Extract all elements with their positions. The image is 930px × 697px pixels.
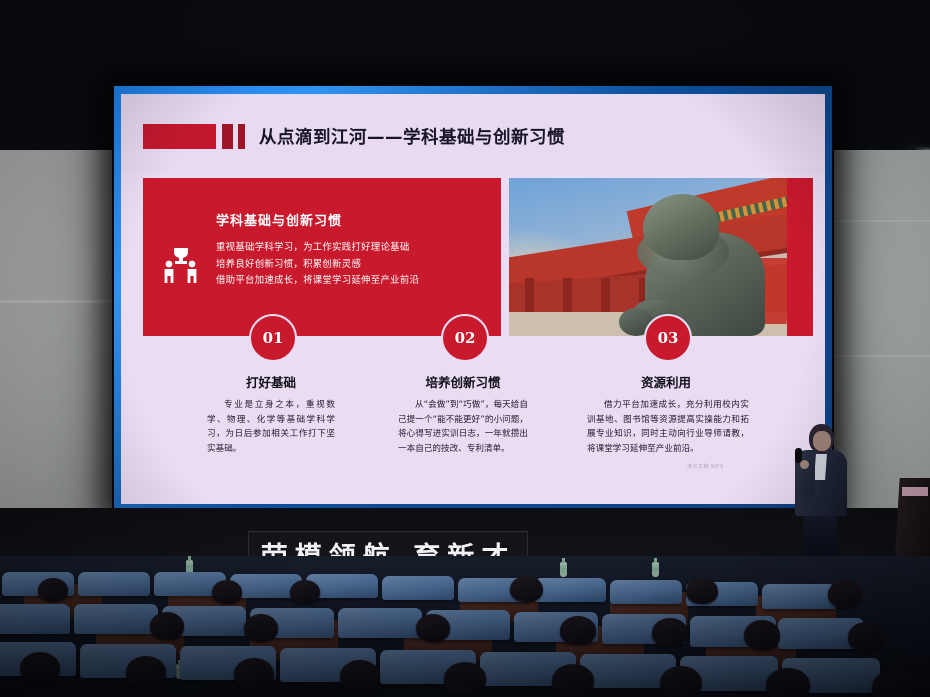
title-accent-bar-large [143,124,216,149]
column-body-3: 借力平台加速成长，充分利用校内实训基地、图书馆等资源提高实操能力和拓展专业知识，… [587,398,749,456]
lecture-hall-scene: 从点滴到江河——学科基础与创新习惯 学科基础与创新习惯 重视基础学科学习，为工作… [0,0,930,697]
hero-line-1: 重视基础学科学习，为工作实践打好理论基础 [216,240,496,257]
audience-seating [0,556,930,697]
presenter-speaker [791,424,853,554]
slide-title-row: 从点滴到江河——学科基础与创新习惯 [143,124,565,149]
hero-text-block: 学科基础与创新习惯 重视基础学科学习，为工作实践打好理论基础 培养良好创新习惯，… [216,210,496,290]
hero-heading: 学科基础与创新习惯 [216,210,496,229]
slide-canvas: 从点滴到江河——学科基础与创新习惯 学科基础与创新习惯 重视基础学科学习，为工作… [121,94,825,504]
presentation-screen[interactable]: 从点滴到江河——学科基础与创新习惯 学科基础与创新习惯 重视基础学科学习，为工作… [112,84,834,514]
step-number-03: 03 [644,314,692,362]
bronze-lion-statue [613,186,773,336]
column-heading-1: 打好基础 [196,372,346,391]
slide-title: 从点滴到江河——学科基础与创新习惯 [259,124,565,149]
step-number-01: 01 [249,314,297,362]
podium-label [902,487,928,496]
column-body-2: 从“会做”到“巧做”，每天给自己提一个“能不能更好”的小问题，将心得写进实训日志… [398,398,528,456]
column-heading-2: 培养创新习惯 [388,372,538,391]
step-number-02: 02 [441,314,489,362]
title-accent-bar-medium [222,124,233,149]
hero-line-3: 借助平台加速成长，将课堂学习延伸至产业前沿 [216,273,496,290]
title-accent-bar-small [238,124,245,149]
forbidden-city-bronze-lion-photo [509,178,791,336]
slide-watermark: 演示文稿 WPS [687,463,724,470]
teamwork-trophy-icon [161,242,201,286]
hero-line-2: 培养良好创新习惯，积累创新灵感 [216,257,496,274]
left-wall [0,150,130,570]
column-body-1: 专业是立身之本，重视数学、物理、化学等基础学科学习，为日后参加相关工作打下坚实基… [207,398,335,456]
right-accent-bar [787,178,813,336]
column-heading-3: 资源利用 [591,372,741,391]
